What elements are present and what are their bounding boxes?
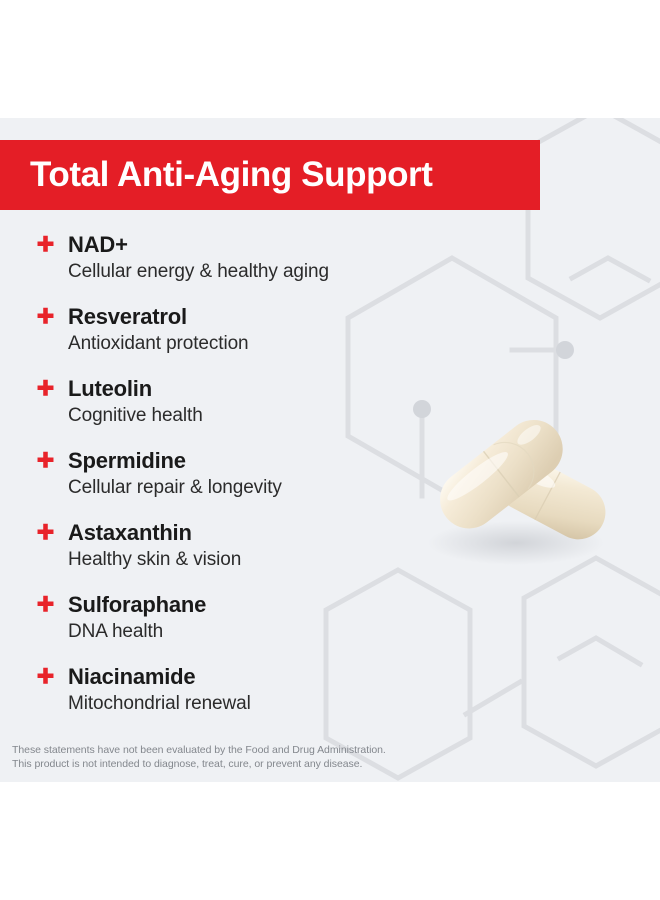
- plus-icon: [36, 595, 55, 614]
- disclaimer-line-1: These statements have not been evaluated…: [12, 743, 432, 757]
- plus-icon: [36, 667, 55, 686]
- ingredient-name: Niacinamide: [68, 664, 195, 690]
- list-item: Sulforaphane DNA health: [0, 592, 420, 664]
- list-item: Astaxanthin Healthy skin & vision: [0, 520, 420, 592]
- list-item: NAD+ Cellular energy & healthy aging: [0, 232, 420, 304]
- list-item: Spermidine Cellular repair & longevity: [0, 448, 420, 520]
- page-title: Total Anti-Aging Support: [0, 155, 433, 195]
- ingredient-description: Mitochondrial renewal: [68, 693, 251, 715]
- list-item: Luteolin Cognitive health: [0, 376, 420, 448]
- ingredient-description: DNA health: [68, 621, 163, 643]
- ingredient-name: Spermidine: [68, 448, 186, 474]
- list-item: Resveratrol Antioxidant protection: [0, 304, 420, 376]
- disclaimer-line-2: This product is not intended to diagnose…: [12, 757, 432, 771]
- ingredient-description: Healthy skin & vision: [68, 549, 241, 571]
- ingredient-name: Luteolin: [68, 376, 152, 402]
- plus-icon: [36, 451, 55, 470]
- ingredient-list: NAD+ Cellular energy & healthy aging Res…: [0, 232, 420, 736]
- ingredient-name: Resveratrol: [68, 304, 187, 330]
- ingredient-name: NAD+: [68, 232, 128, 258]
- ingredient-name: Astaxanthin: [68, 520, 192, 546]
- fda-disclaimer: These statements have not been evaluated…: [12, 743, 432, 771]
- capsule-pair-image: [398, 383, 628, 583]
- ingredient-description: Antioxidant protection: [68, 333, 249, 355]
- plus-icon: [36, 523, 55, 542]
- plus-icon: [36, 235, 55, 254]
- infographic-card: Total Anti-Aging Support: [0, 118, 660, 782]
- list-item: Niacinamide Mitochondrial renewal: [0, 664, 420, 736]
- ingredient-description: Cellular repair & longevity: [68, 477, 282, 499]
- title-banner: Total Anti-Aging Support: [0, 140, 540, 210]
- plus-icon: [36, 379, 55, 398]
- plus-icon: [36, 307, 55, 326]
- ingredient-name: Sulforaphane: [68, 592, 206, 618]
- ingredient-description: Cognitive health: [68, 405, 203, 427]
- ingredient-description: Cellular energy & healthy aging: [68, 261, 329, 283]
